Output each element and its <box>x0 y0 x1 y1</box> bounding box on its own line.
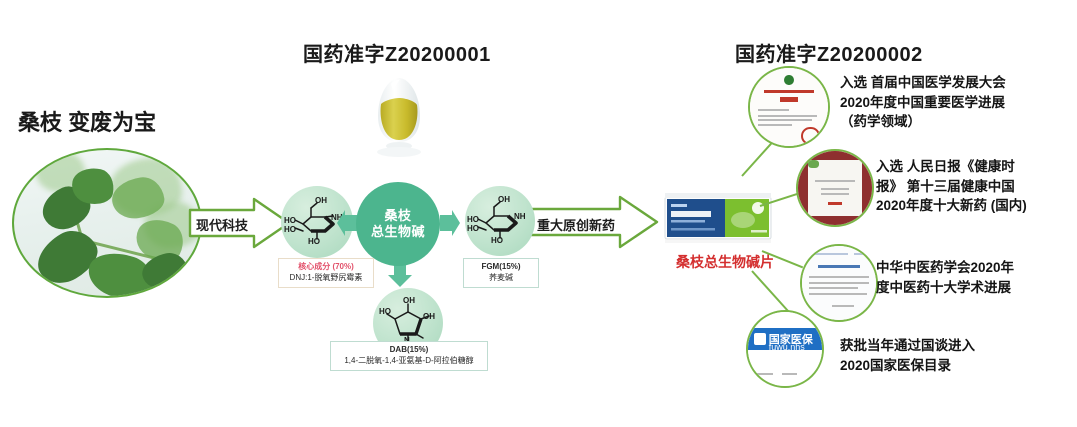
molecule-fgm: OH HO HO HO NH <box>465 186 535 256</box>
svg-text:OH: OH <box>403 296 415 305</box>
arrow-core-to-fgm <box>440 210 460 236</box>
award-text-3: 中华中医药学会2020年 度中医药十大学术进展 <box>876 258 1076 297</box>
page-title-right: 国药准字Z20200002 <box>735 38 923 67</box>
svg-text:OH: OH <box>315 196 327 205</box>
connector-line-4 <box>751 270 789 311</box>
caption-dab-headline: DAB(15%) <box>336 345 482 356</box>
svg-text:NH: NH <box>514 212 526 221</box>
arrow-modern-technology-label: 现代科技 <box>196 215 248 234</box>
website-thumb-url: fuwu.nhs <box>769 342 805 352</box>
caption-dnj: 核心成分 (70%) DNJ:1-脱氧野尻霉素 <box>278 258 374 288</box>
core-line-2: 总生物碱 <box>371 224 425 240</box>
caption-fgm-name: 荞麦碱 <box>469 273 533 284</box>
mulberry-leaf-photo <box>12 148 202 298</box>
award-text-4: 获批当年通过国谈进入 2020国家医保目录 <box>840 336 1060 375</box>
svg-text:HO: HO <box>308 237 320 246</box>
arrow-core-to-dnj <box>337 210 357 236</box>
award-3-line-2: 度中医药十大学术进展 <box>876 278 1076 298</box>
award-2-line-1: 入选 人民日报《健康时 <box>876 157 1076 177</box>
svg-text:HO: HO <box>379 307 391 316</box>
svg-text:HO: HO <box>284 216 296 225</box>
powder-jar-photo <box>365 72 433 158</box>
caption-dnj-name: DNJ:1-脱氧野尻霉素 <box>284 273 368 284</box>
slogan-text: 桑枝 变废为宝 <box>18 105 156 137</box>
award-3-line-1: 中华中医药学会2020年 <box>876 258 1076 278</box>
award-4-line-1: 获批当年通过国谈进入 <box>840 336 1060 356</box>
svg-text:OH: OH <box>423 312 435 321</box>
caption-fgm: FGM(15%) 荞麦碱 <box>463 258 539 288</box>
svg-text:HO: HO <box>467 215 479 224</box>
caption-dab-name: 1,4-二脱氧-1,4-亚氨基-D-阿拉伯糖醇 <box>336 356 482 367</box>
svg-text:HO: HO <box>491 236 503 245</box>
award-thumbnail-4: 国家医保 fuwu.nhs <box>746 310 824 388</box>
award-1-line-3: （药学领域） <box>840 112 1070 132</box>
arrow-core-to-dab <box>388 265 412 287</box>
caption-dnj-headline: 核心成分 (70%) <box>284 262 368 273</box>
caption-dab: DAB(15%) 1,4-二脱氧-1,4-亚氨基-D-阿拉伯糖醇 <box>330 341 488 371</box>
award-1-line-1: 入选 首届中国医学发展大会 <box>840 73 1070 93</box>
svg-text:OH: OH <box>498 195 510 204</box>
page-title-middle: 国药准字Z20200001 <box>303 38 491 67</box>
award-thumbnail-1 <box>748 66 830 148</box>
award-text-2: 入选 人民日报《健康时 报》 第十三届健康中国 2020年度十大新药 (国内) <box>876 157 1076 216</box>
award-2-line-2: 报》 第十三届健康中国 <box>876 177 1076 197</box>
core-alkaloid-circle: 桑枝 总生物碱 <box>356 182 440 266</box>
product-box-photo <box>663 193 773 245</box>
svg-text:HO: HO <box>467 224 479 233</box>
svg-text:HO: HO <box>284 225 296 234</box>
award-thumbnail-3 <box>800 244 878 322</box>
caption-fgm-headline: FGM(15%) <box>469 262 533 273</box>
award-text-1: 入选 首届中国医学发展大会 2020年度中国重要医学进展 （药学领域） <box>840 73 1070 132</box>
award-4-line-2: 2020国家医保目录 <box>840 356 1060 376</box>
award-2-line-3: 2020年度十大新药 (国内) <box>876 196 1076 216</box>
core-line-1: 桑枝 <box>371 208 425 224</box>
award-thumbnail-2 <box>796 149 874 227</box>
arrow-major-innovative-drug-label: 重大原创新药 <box>537 215 615 234</box>
award-1-line-2: 2020年度中国重要医学进展 <box>840 93 1070 113</box>
